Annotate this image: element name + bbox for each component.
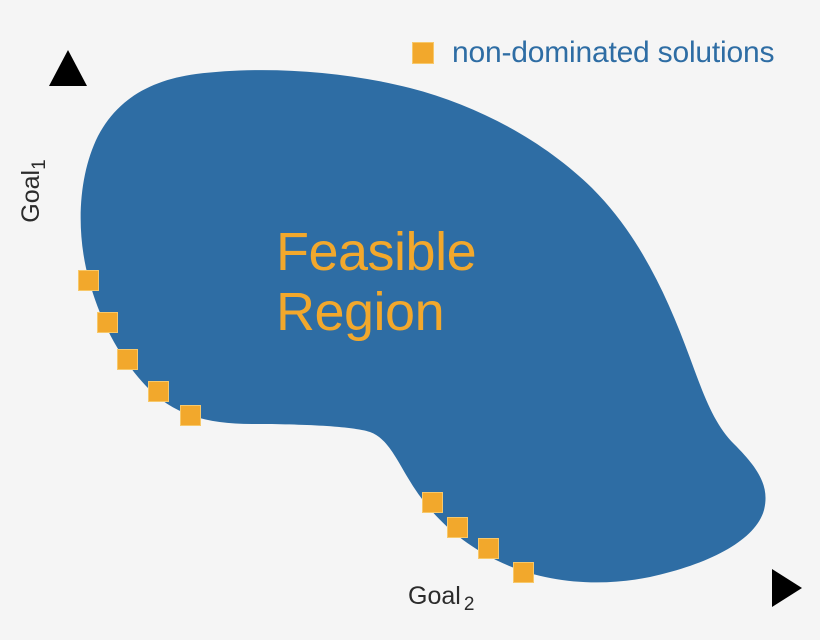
y-axis-label: Goal1 [19, 151, 49, 231]
y-axis-label-text: Goal [17, 170, 45, 223]
x-axis-label-subscript: 2 [464, 594, 475, 615]
feasible-region-label-line1: Feasible [276, 222, 476, 282]
figure-canvas: non-dominated solutions Feasible Region … [0, 0, 820, 640]
x-axis-label-text: Goal [408, 582, 461, 610]
legend: non-dominated solutions [412, 38, 774, 68]
y-axis-label-subscript: 1 [29, 159, 50, 170]
feasible-region-label-line2: Region [276, 282, 476, 342]
feasible-region-label: Feasible Region [276, 222, 476, 343]
legend-label: non-dominated solutions [452, 38, 774, 68]
legend-marker-icon [412, 42, 434, 64]
x-axis-label: Goal2 [408, 584, 474, 614]
